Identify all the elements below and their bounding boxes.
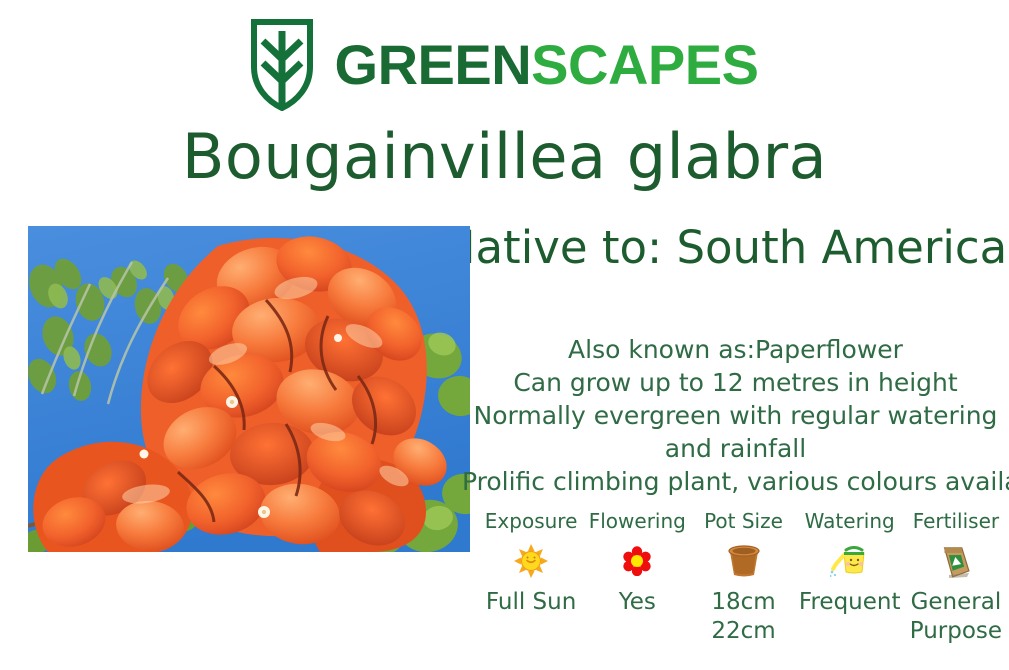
attribute-exposure: Exposure (478, 510, 584, 617)
plant-photo (28, 226, 470, 552)
attribute-values: 18cm 22cm (711, 588, 775, 647)
attribute-value: Yes (619, 588, 656, 617)
attribute-label: Exposure (485, 510, 578, 532)
attribute-value: Full Sun (486, 588, 576, 617)
species-title: Bougainvillea glabra (0, 124, 1009, 189)
brand-header: GREENSCAPES (0, 16, 1009, 114)
attribute-row: Exposure (478, 510, 1009, 647)
attribute-label: Flowering (589, 510, 686, 532)
attribute-values: General Purpose (910, 588, 1002, 647)
attribute-flowering: Flowering Yes (584, 510, 690, 617)
plant-label-card: GREENSCAPES Bougainvillea glabra Native … (0, 0, 1009, 670)
attribute-value: Purpose (910, 617, 1002, 646)
attribute-values: Full Sun (486, 588, 576, 617)
watering-can-icon (830, 540, 870, 582)
description-block: Also known as:Paperflower Can grow up to… (462, 333, 1009, 498)
attribute-pot-size: Pot Size 18cm 22cm (690, 510, 796, 647)
brand-word-scapes: SCAPES (531, 33, 758, 96)
leaf-shield-icon (251, 19, 313, 111)
attribute-watering: Watering (797, 510, 903, 617)
attribute-values: Frequent (799, 588, 901, 617)
attribute-values: Yes (619, 588, 656, 617)
fertiliser-bag-icon (939, 540, 973, 582)
attribute-value: 22cm (711, 617, 775, 646)
sun-icon (514, 540, 548, 582)
attribute-label: Watering (805, 510, 895, 532)
native-to-line: Native to: South America (440, 224, 1009, 271)
flower-icon (622, 540, 652, 582)
attribute-value: Frequent (799, 588, 901, 617)
attribute-value: General (910, 588, 1002, 617)
attribute-fertiliser: Fertiliser General Purpose (903, 510, 1009, 647)
brand-word-green: GREEN (335, 33, 532, 96)
attribute-value: 18cm (711, 588, 775, 617)
description-line: Normally evergreen with regular watering… (462, 399, 1009, 465)
plant-pot-icon (726, 540, 762, 582)
description-line: Can grow up to 12 metres in height (462, 366, 1009, 399)
attribute-label: Pot Size (704, 510, 783, 532)
attribute-label: Fertiliser (913, 510, 999, 532)
description-line: Prolific climbing plant, various colours… (462, 465, 1009, 498)
brand-wordmark: GREENSCAPES (335, 37, 759, 93)
description-line: Also known as:Paperflower (462, 333, 1009, 366)
